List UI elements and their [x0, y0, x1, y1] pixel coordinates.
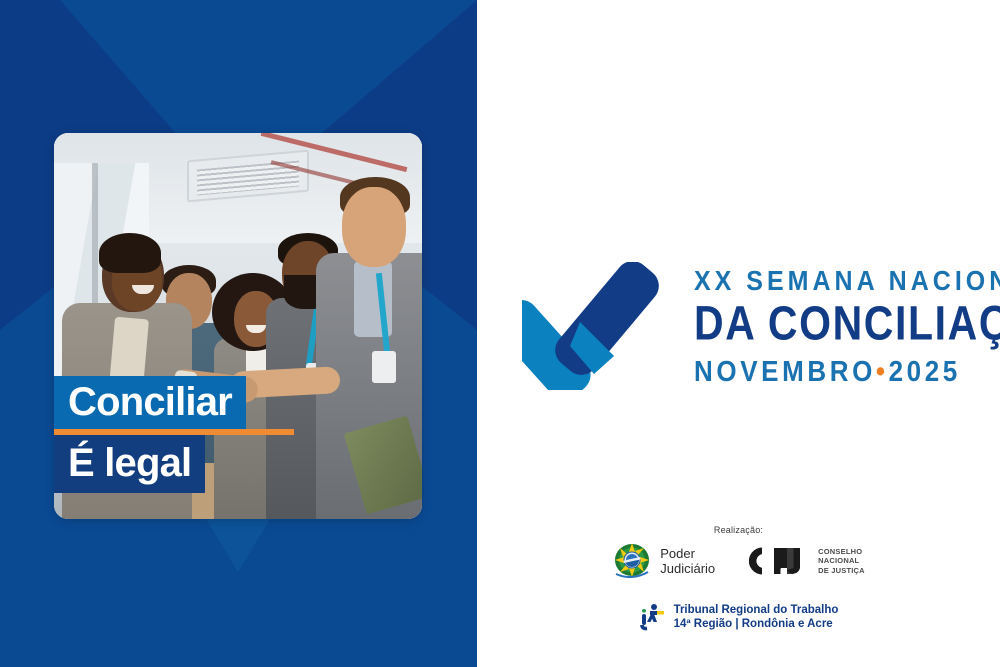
poder-judiciario-text: Poder Judiciário	[660, 546, 715, 576]
trt-text: Tribunal Regional do Trabalho 14ª Região…	[674, 603, 839, 631]
cnj-line-2: NACIONAL	[818, 556, 865, 566]
trt-logo: Tribunal Regional do Trabalho 14ª Região…	[639, 603, 839, 631]
trt-ji-icon	[639, 603, 667, 631]
handshake-group-photo: Conciliar É legal	[54, 133, 422, 519]
partner-logo-row: Poder Judiciário	[612, 541, 865, 581]
logo-line-da-conciliacao: DA CONCILIAÇÃO	[694, 295, 1000, 349]
logo-separator-dot: •	[876, 354, 889, 388]
cnj-wordmark-icon	[749, 546, 811, 576]
overlay-banner-top: Conciliar	[54, 376, 246, 429]
photo-person-5-head	[342, 187, 406, 267]
cnj-logo: CONSELHO NACIONAL DE JUSTIÇA	[749, 546, 865, 576]
photo-person-1-hair	[99, 233, 161, 273]
trt-line-2: 14ª Região | Rondônia e Acre	[674, 617, 839, 631]
cnj-text: CONSELHO NACIONAL DE JUSTIÇA	[818, 547, 865, 576]
overlay-text-e-legal: É legal	[68, 440, 191, 486]
cnj-line-3: DE JUSTIÇA	[818, 566, 865, 576]
logo-line-date: NOVEMBRO•2025	[694, 354, 1000, 389]
pj-line-1: Poder	[660, 546, 715, 561]
footer-logos: Realização:	[477, 525, 1000, 631]
overlay-text-conciliar: Conciliar	[68, 380, 232, 424]
trt-line-1: Tribunal Regional do Trabalho	[674, 603, 839, 617]
checkmark-icon	[522, 262, 672, 390]
photo-person-5-badge	[372, 351, 396, 383]
overlay-banner-bottom: É legal	[54, 435, 205, 493]
campaign-logo-lockup: XX SEMANA NACIONAL DA CONCILIAÇÃO NOVEMB…	[522, 262, 1000, 390]
logo-line-semana-nacional: XX SEMANA NACIONAL	[694, 264, 1000, 298]
poder-judiciario-logo: Poder Judiciário	[612, 541, 715, 581]
realizacao-label: Realização:	[714, 525, 763, 535]
logo-month: NOVEMBRO	[694, 354, 876, 388]
logo-year: 2025	[889, 354, 961, 388]
right-white-panel: XX SEMANA NACIONAL DA CONCILIAÇÃO NOVEMB…	[477, 0, 1000, 667]
campaign-logo-text: XX SEMANA NACIONAL DA CONCILIAÇÃO NOVEMB…	[694, 268, 1000, 385]
pj-line-2: Judiciário	[660, 561, 715, 576]
left-blue-panel: Conciliar É legal	[0, 0, 477, 667]
brazil-coat-of-arms-icon	[612, 541, 652, 581]
cnj-line-1: CONSELHO	[818, 547, 865, 557]
